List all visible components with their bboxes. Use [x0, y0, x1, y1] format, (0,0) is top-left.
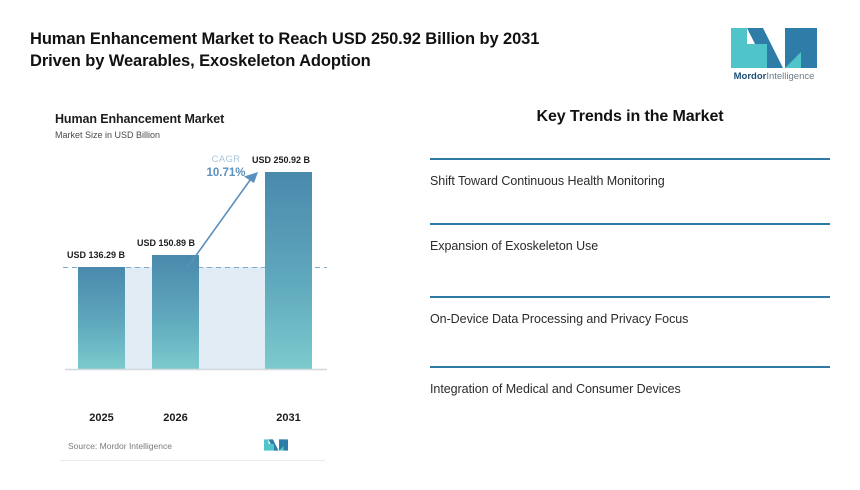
trend-label-4: Integration of Medical and Consumer Devi…: [430, 382, 830, 396]
trend-label-2: Expansion of Exoskeleton Use: [430, 239, 830, 253]
bar-chart-svg: [55, 172, 330, 412]
chart-source-row: Source: Mordor Intelligence: [55, 438, 330, 460]
brand-wordmark: MordorIntelligence: [718, 71, 830, 82]
value-label-2031: USD 250.92 B: [252, 155, 310, 165]
value-label-2026: USD 150.89 B: [137, 238, 195, 248]
trend-label-3: On-Device Data Processing and Privacy Fo…: [430, 312, 830, 326]
brand-name-light: Intelligence: [766, 71, 814, 82]
chart-subtitle: Market Size in USD Billion: [55, 130, 330, 140]
headline-line-2: Driven by Wearables, Exoskeleton Adoptio…: [30, 50, 690, 72]
trend-item-1[interactable]: Shift Toward Continuous Health Monitorin…: [430, 158, 830, 188]
page-header: Human Enhancement Market to Reach USD 25…: [30, 28, 690, 72]
trend-item-3[interactable]: On-Device Data Processing and Privacy Fo…: [430, 296, 830, 326]
growth-arrow-shaft: [187, 176, 253, 268]
mordor-intelligence-mi-monogram-small-icon: [264, 438, 288, 452]
trend-divider-4: [430, 366, 830, 368]
brand-logo: MordorIntelligence: [718, 28, 830, 82]
trend-divider-3: [430, 296, 830, 298]
chart-card-divider: [60, 460, 325, 461]
key-trends-panel: Key Trends in the Market Shift Toward Co…: [430, 108, 830, 147]
chart-title: Human Enhancement Market: [55, 112, 330, 126]
headline-line-1: Human Enhancement Market to Reach USD 25…: [30, 30, 539, 48]
trend-item-2[interactable]: Expansion of Exoskeleton Use: [430, 223, 830, 253]
bar-2026: [152, 255, 199, 369]
page-title: Human Enhancement Market to Reach USD 25…: [30, 28, 690, 72]
bar-2031: [265, 172, 312, 369]
chart-source-text: Source: Mordor Intelligence: [68, 441, 172, 451]
cagr-value: 10.71%: [195, 167, 257, 179]
x-axis-labels: 2025 2026 2031: [55, 412, 330, 432]
infographic-page: Human Enhancement Market to Reach USD 25…: [0, 0, 860, 490]
chart-card: Human Enhancement Market Market Size in …: [55, 112, 330, 462]
mordor-intelligence-mi-monogram-icon: [731, 28, 817, 68]
trend-item-4[interactable]: Integration of Medical and Consumer Devi…: [430, 366, 830, 396]
x-tick-2031: 2031: [252, 412, 325, 424]
bar-2025: [78, 267, 125, 369]
trend-divider-2: [430, 223, 830, 225]
key-trends-title: Key Trends in the Market: [430, 108, 830, 126]
value-label-2025: USD 136.29 B: [67, 250, 125, 260]
trend-divider-1: [430, 158, 830, 160]
x-tick-2025: 2025: [65, 412, 138, 424]
bar-chart-plot: USD 136.29 B USD 150.89 B USD 250.92 B C…: [55, 172, 330, 412]
trend-label-1: Shift Toward Continuous Health Monitorin…: [430, 174, 830, 188]
brand-name-bold: Mordor: [734, 71, 767, 82]
cagr-caption: CAGR: [195, 154, 257, 165]
x-tick-2026: 2026: [139, 412, 212, 424]
